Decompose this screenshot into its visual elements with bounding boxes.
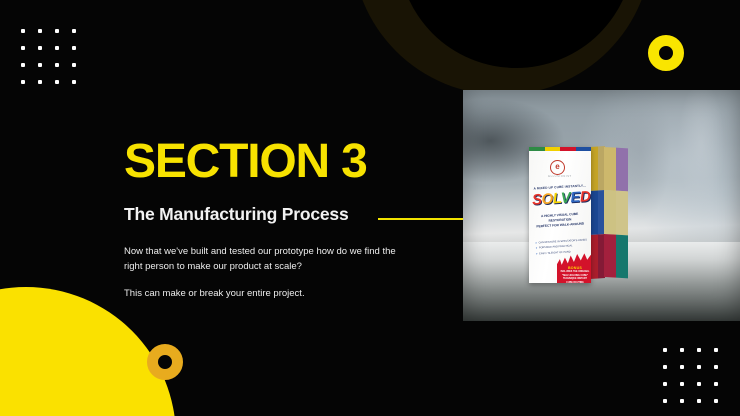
grid-dot xyxy=(38,80,42,84)
text-block: SECTION 3 The Manufacturing Process Now … xyxy=(124,138,424,302)
product-photo: e ELLUSIONIST A MIXED UP CUBE INSTANTLY…… xyxy=(463,90,740,321)
grid-dot xyxy=(21,63,25,67)
logo-letter: ! xyxy=(590,188,591,205)
grid-dot xyxy=(680,348,684,352)
grid-dot xyxy=(21,80,25,84)
body-paragraph-1: Now that we've built and tested our prot… xyxy=(124,225,410,274)
grid-dot xyxy=(38,46,42,50)
page-title: SECTION 3 xyxy=(124,138,424,186)
stripe-segment xyxy=(576,147,592,151)
grid-dot xyxy=(663,365,667,369)
grid-dot xyxy=(697,365,701,369)
grid-dot xyxy=(663,399,667,403)
gold-ring-icon xyxy=(147,344,183,380)
grid-dot xyxy=(38,29,42,33)
dot-grid-bottom-right xyxy=(663,348,718,403)
cube-face-tile xyxy=(616,191,628,235)
grid-dot xyxy=(55,80,59,84)
bonus-copy: INCLUDES THE ORIGINAL "SELF-SOLVING CUBE… xyxy=(560,271,590,283)
grid-dot xyxy=(714,348,718,352)
stripe-segment xyxy=(560,147,576,151)
cube-face-tile xyxy=(604,234,616,278)
grid-dot xyxy=(680,365,684,369)
bonus-title: BONUS xyxy=(557,266,591,270)
product-name-logo: SOLVED! xyxy=(532,189,589,207)
grid-dot xyxy=(697,348,701,352)
grid-dot xyxy=(55,63,59,67)
grid-dot xyxy=(55,29,59,33)
cube-face-tile xyxy=(604,147,616,191)
cube-face-tile xyxy=(590,234,598,279)
grid-dot xyxy=(714,382,718,386)
brand-logo-icon: e xyxy=(550,160,565,175)
grid-dot xyxy=(72,46,76,50)
cube-face-tile xyxy=(616,148,628,192)
cube-face-tile xyxy=(590,146,598,191)
grid-dot xyxy=(714,365,718,369)
grid-dot xyxy=(680,382,684,386)
yellow-ring-icon xyxy=(648,35,684,71)
box-bullet-list: CAN RESTORE IN SPECTATOR'S HANDS PORTABL… xyxy=(536,237,588,256)
dot-grid-top-left xyxy=(21,29,76,84)
grid-dot xyxy=(697,399,701,403)
grid-dot xyxy=(72,29,76,33)
grid-dot xyxy=(38,63,42,67)
grid-dot xyxy=(714,399,718,403)
box-front-panel: e ELLUSIONIST A MIXED UP CUBE INSTANTLY…… xyxy=(529,147,591,283)
olive-circle-decor xyxy=(352,0,652,95)
grid-dot xyxy=(21,46,25,50)
box-tagline: A HIGHLY VISUAL CUBE RESTORATION PERFECT… xyxy=(532,211,589,229)
grid-dot xyxy=(55,46,59,50)
cube-face-tile xyxy=(616,234,628,278)
slide-canvas: SECTION 3 The Manufacturing Process Now … xyxy=(0,0,740,416)
body-paragraph-2: This can make or break your entire proje… xyxy=(124,274,410,302)
product-box: e ELLUSIONIST A MIXED UP CUBE INSTANTLY…… xyxy=(529,147,627,283)
cube-face-tile xyxy=(590,190,598,235)
grid-dot xyxy=(697,382,701,386)
grid-dot xyxy=(663,348,667,352)
stripe-segment xyxy=(545,147,561,151)
box-side-panel-a xyxy=(590,146,605,279)
grid-dot xyxy=(680,399,684,403)
box-top-stripe xyxy=(529,147,591,151)
box-side-panel-b xyxy=(604,147,628,278)
brand-name: ELLUSIONIST xyxy=(539,175,581,178)
grid-dot xyxy=(72,63,76,67)
grid-dot xyxy=(72,80,76,84)
grid-dot xyxy=(21,29,25,33)
olive-circle-inner-decor xyxy=(398,0,634,68)
stripe-segment xyxy=(529,147,545,151)
grid-dot xyxy=(663,382,667,386)
cube-face-tile xyxy=(604,190,616,234)
